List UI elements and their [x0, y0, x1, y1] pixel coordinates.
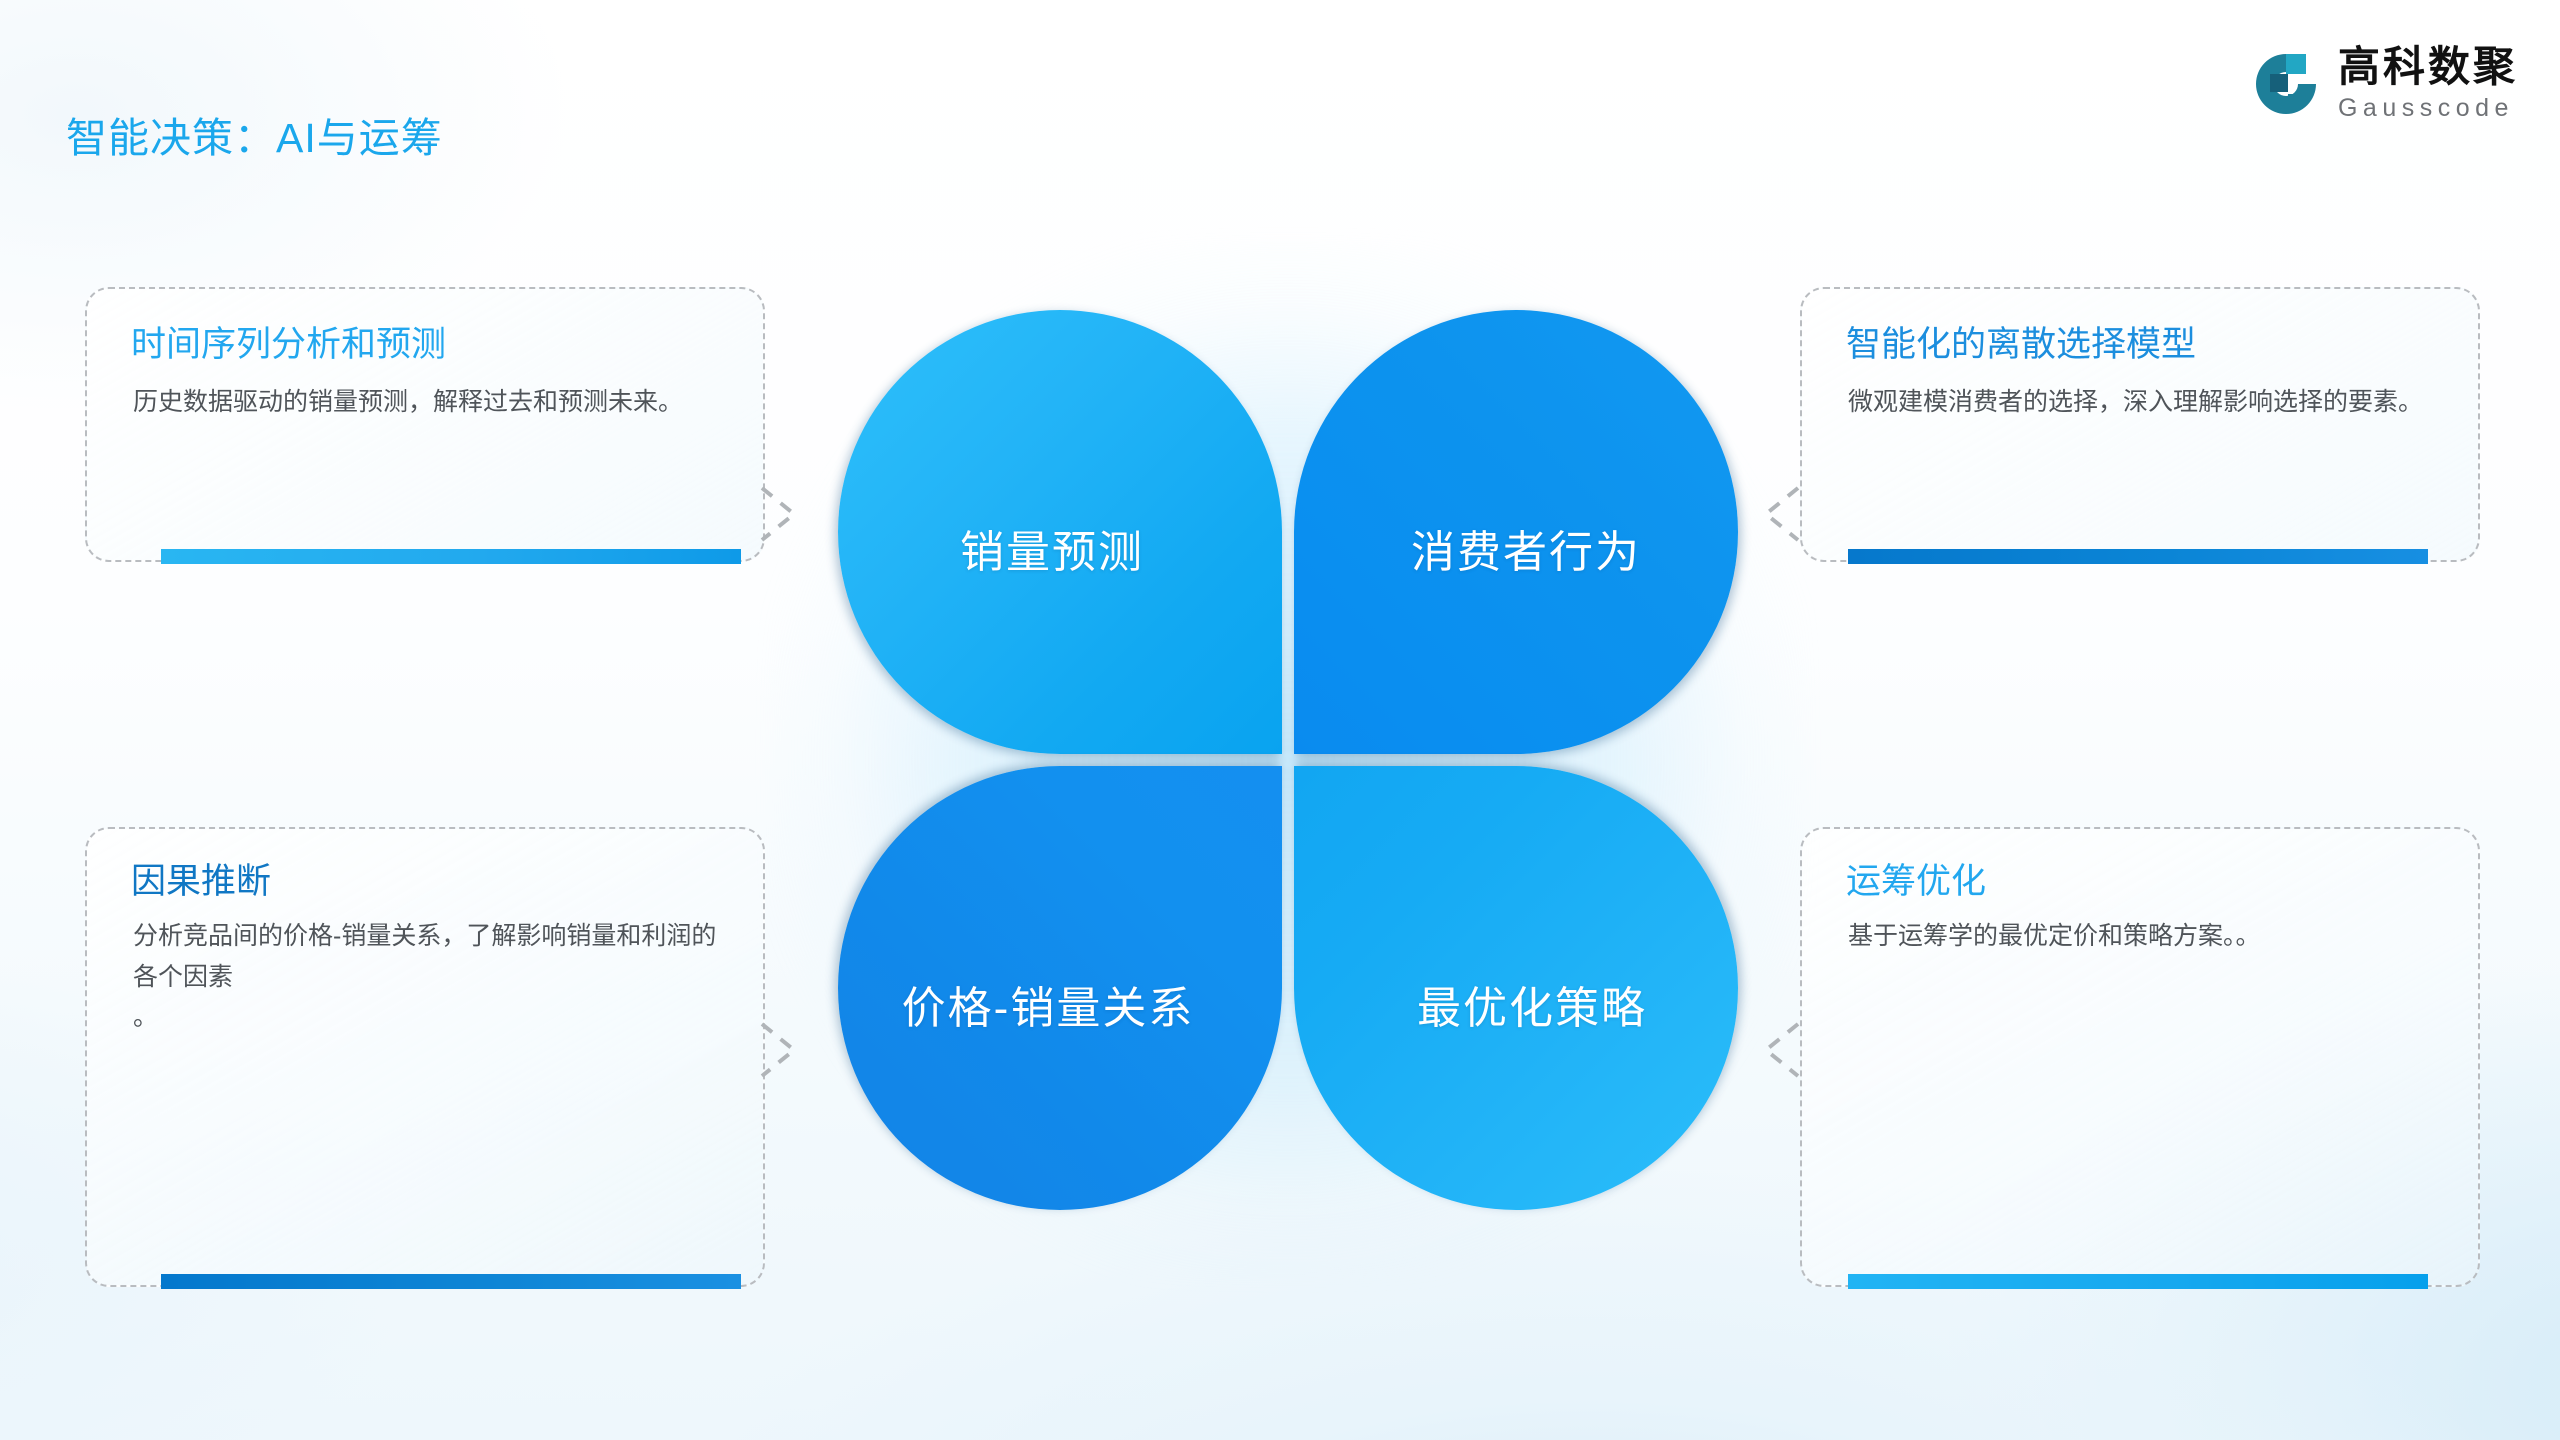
petal-label: 消费者行为 [1411, 516, 1641, 580]
petal-label: 最优化策略 [1417, 972, 1647, 1036]
petal-price-sales-relation[interactable]: 价格-销量关系 [838, 766, 1282, 1210]
card-accent-bar [161, 1274, 741, 1289]
card-accent-bar [1848, 549, 2428, 564]
petal-sales-forecast[interactable]: 销量预测 [838, 310, 1282, 754]
logo-en-text: Gausscode [2338, 96, 2518, 121]
petal-cluster: 销量预测 消费者行为 价格-销量关系 最优化策略 [838, 310, 1738, 1210]
info-card-discrete-choice[interactable]: 智能化的离散选择模型 微观建模消费者的选择，深入理解影响选择的要素。 [1800, 287, 2480, 562]
logo-mark-icon [2250, 48, 2322, 120]
card-body: 基于运筹学的最优定价和策略方案。。 [1848, 916, 2458, 957]
card-accent-bar [1848, 1274, 2428, 1289]
petal-optimization-strategy[interactable]: 最优化策略 [1294, 766, 1738, 1210]
page-title: 智能决策：AI与运筹 [66, 104, 443, 164]
card-title: 因果推断 [131, 853, 271, 904]
header: 智能决策：AI与运筹 高科数聚 Gausscode [0, 0, 2560, 175]
card-accent-bar [161, 549, 741, 564]
card-title: 时间序列分析和预测 [131, 316, 446, 367]
brand-logo: 高科数聚 Gausscode [2250, 46, 2518, 121]
logo-cn-text: 高科数聚 [2338, 46, 2518, 88]
info-card-time-series[interactable]: 时间序列分析和预测 历史数据驱动的销量预测，解释过去和预测未来。 [85, 287, 765, 562]
card-body: 分析竞品间的价格-销量关系，了解影响销量和利润的各个因素 。 [133, 916, 733, 1038]
info-card-operations-research[interactable]: 运筹优化 基于运筹学的最优定价和策略方案。。 [1800, 827, 2480, 1287]
petal-consumer-behavior[interactable]: 消费者行为 [1294, 310, 1738, 754]
info-card-causal-inference[interactable]: 因果推断 分析竞品间的价格-销量关系，了解影响销量和利润的各个因素 。 [85, 827, 765, 1287]
card-title: 智能化的离散选择模型 [1846, 316, 2196, 367]
petal-label: 价格-销量关系 [902, 972, 1195, 1036]
card-body: 微观建模消费者的选择，深入理解影响选择的要素。 [1848, 382, 2448, 423]
petal-label: 销量预测 [960, 516, 1144, 580]
logo-text: 高科数聚 Gausscode [2338, 46, 2518, 121]
card-body: 历史数据驱动的销量预测，解释过去和预测未来。 [133, 382, 723, 423]
card-title: 运筹优化 [1846, 853, 1986, 904]
